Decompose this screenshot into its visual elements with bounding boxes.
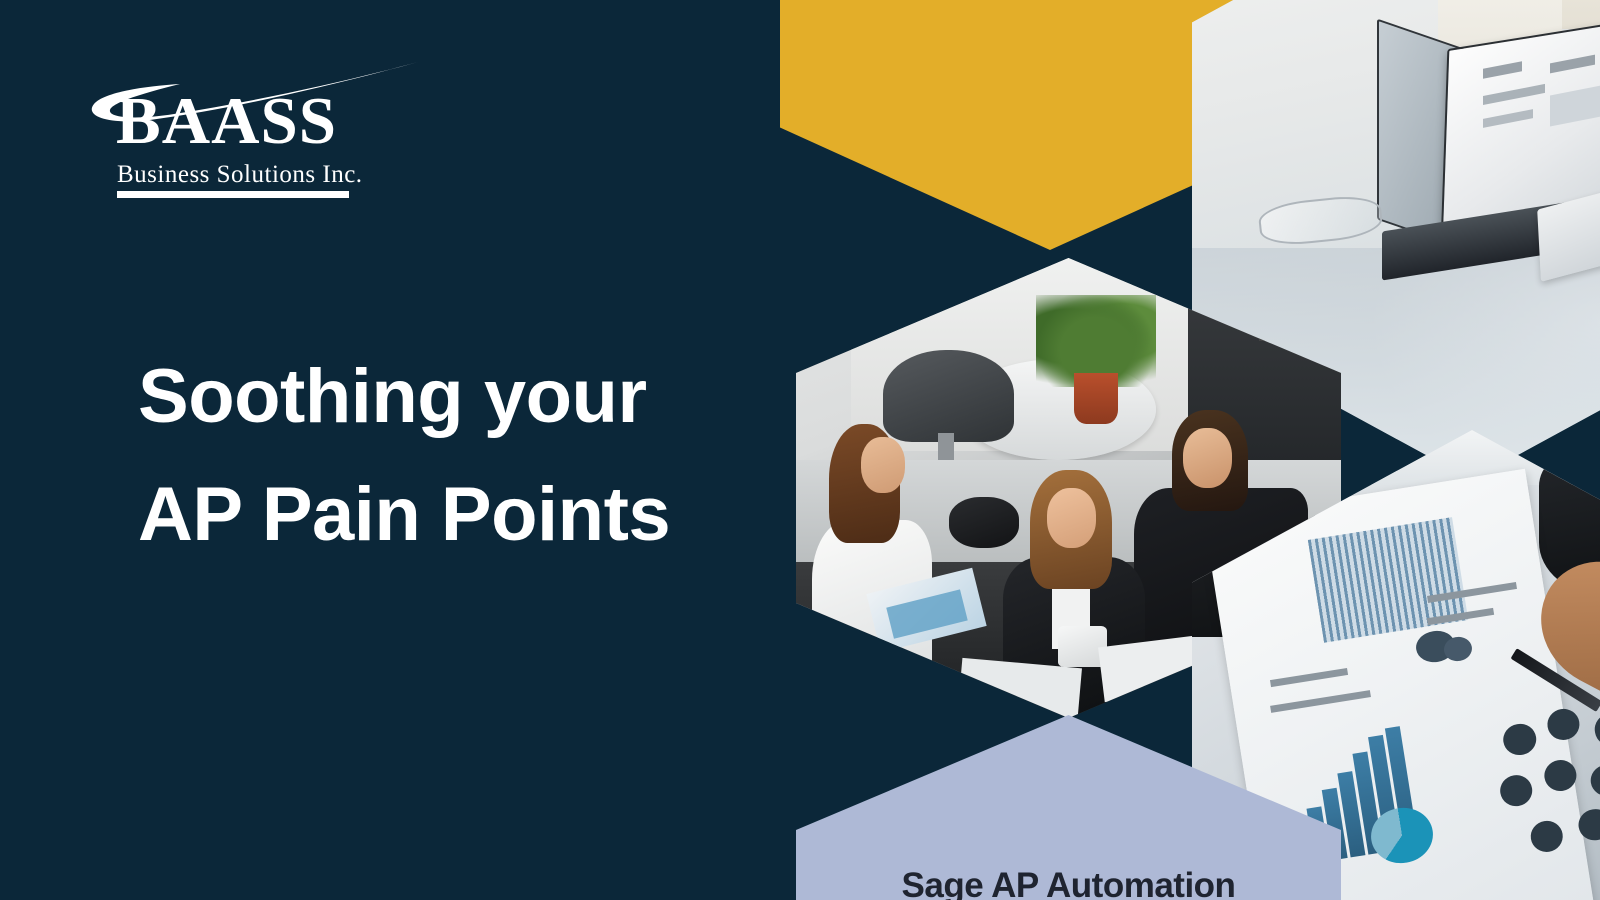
bag-on-floor [949, 497, 1020, 548]
headline-line-2: AP Pain Points [138, 456, 738, 574]
dot [1576, 806, 1600, 842]
office-chair [883, 350, 1014, 442]
eyeglasses [1257, 193, 1384, 248]
dot [1542, 757, 1579, 793]
plant-pot [1074, 373, 1118, 424]
person-right-face [1183, 428, 1232, 488]
sage-product-title: Sage AP Automation [902, 868, 1236, 900]
dot [1501, 721, 1538, 757]
baass-logo[interactable]: BAASS Business Solutions Inc. [88, 58, 418, 186]
hexagon-photo-collage: Sage AP Automation powered by Quadient B… [740, 0, 1600, 900]
dot [1592, 711, 1600, 747]
left-content-column: BAASS Business Solutions Inc. Soothing y… [0, 0, 780, 900]
page-title: Soothing your AP Pain Points [138, 338, 738, 574]
dot [1589, 762, 1600, 798]
window-light-b [1562, 0, 1600, 29]
striped-chart [1308, 517, 1468, 642]
headline-line-1: Soothing your [138, 338, 738, 456]
dot [1498, 772, 1535, 808]
slide-canvas: BAASS Business Solutions Inc. Soothing y… [0, 0, 1600, 900]
logo-underline-rule [117, 191, 349, 198]
logo-wordmark-text: BAASS [116, 88, 337, 155]
logo-tagline-text: Business Solutions Inc. [117, 162, 363, 187]
person-left-face [861, 437, 905, 492]
dot [1528, 818, 1565, 854]
person-centre-face [1047, 488, 1096, 548]
dot [1545, 706, 1582, 742]
desk-document [958, 658, 1082, 718]
